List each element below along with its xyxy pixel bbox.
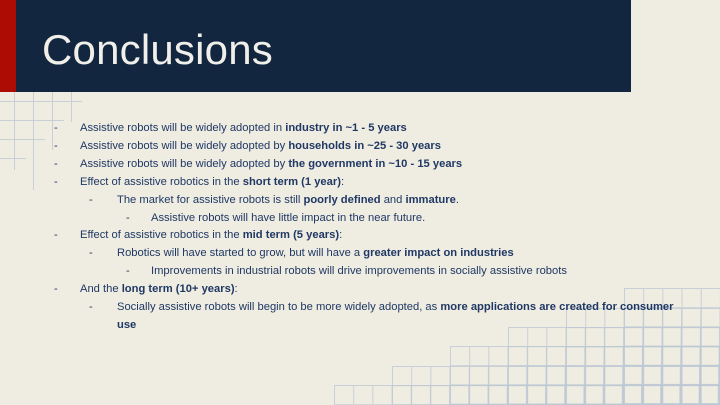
bullet-text-emphasis: mid term (5 years) [243,229,339,241]
grid-block [508,327,720,405]
bullet-text-emphasis: greater impact on industries [363,247,513,259]
bullet-text: Assistive robots will be widely adopted … [80,120,680,138]
bullet-text-run: Socially assistive robots will begin to … [117,301,440,313]
page-title: Conclusions [42,24,273,76]
bullet-item-level-3: -Assistive robots will have little impac… [0,210,720,228]
bullet-marker: - [54,156,80,174]
bullet-marker: - [89,245,117,263]
bullet-item-level-2: -Socially assistive robots will begin to… [0,299,720,335]
title-bar: Conclusions [0,0,631,92]
bullet-marker: - [54,174,80,192]
bullet-item-level-1: -Effect of assistive robotics in the mid… [0,227,720,245]
bullet-text-run: . [456,194,459,206]
bullet-marker: - [126,210,151,228]
bullet-list: -Assistive robots will be widely adopted… [0,120,720,335]
bullet-text-emphasis: poorly defined [304,194,381,206]
bullet-text-run: and [381,194,406,206]
bullet-item-level-1: -Effect of assistive robotics in the sho… [0,174,720,192]
bullet-text-run: Improvements in industrial robots will d… [151,265,567,277]
bullet-text-run: Assistive robots will be widely adopted … [80,158,288,170]
bullet-text-emphasis: short term (1 year) [243,176,341,188]
bullet-text-run: : [339,229,342,241]
bullet-item-level-1: -And the long term (10+ years): [0,281,720,299]
bullet-text: Assistive robots will be widely adopted … [80,138,680,156]
bullet-item-level-1: -Assistive robots will be widely adopted… [0,120,720,138]
bullet-item-level-2: -The market for assistive robots is stil… [0,192,720,210]
bullet-marker: - [54,120,80,138]
bullet-text-run: : [341,176,344,188]
bullet-marker: - [54,138,80,156]
bullet-text: Robotics will have started to grow, but … [117,245,682,263]
bullet-text-run: The market for assistive robots is still [117,194,304,206]
bullet-text: Assistive robots will have little impact… [151,210,681,228]
bullet-text: Effect of assistive robotics in the mid … [80,227,680,245]
slide-canvas: Conclusions -Assistive robots will be wi… [0,0,720,405]
bullet-text-emphasis: industry in ~1 - 5 years [285,122,407,134]
bullet-text: The market for assistive robots is still… [117,192,682,210]
grid-block [334,385,720,405]
bullet-text-run: Effect of assistive robotics in the [80,229,243,241]
bullet-text: Socially assistive robots will begin to … [117,299,682,335]
bullet-marker: - [54,227,80,245]
bullet-text: Improvements in industrial robots will d… [151,263,681,281]
bullet-item-level-1: -Assistive robots will be widely adopted… [0,138,720,156]
bullet-text-run: Assistive robots will be widely adopted … [80,122,285,134]
bullet-marker: - [54,281,80,299]
bullet-marker: - [89,192,117,210]
bullet-text-emphasis: immature [405,194,455,206]
grid-line-vertical [71,92,72,122]
bullet-item-level-1: -Assistive robots will be widely adopted… [0,156,720,174]
bullet-text: Assistive robots will be widely adopted … [80,156,680,174]
grid-block [450,346,720,405]
title-accent-bar [0,0,16,92]
bullet-text-run: Robotics will have started to grow, but … [117,247,363,259]
bullet-marker: - [126,263,151,281]
grid-block [392,366,720,405]
bullet-text-run: And the [80,283,122,295]
grid-line-horizontal [0,101,82,102]
bullet-text: Effect of assistive robotics in the shor… [80,174,680,192]
bullet-item-level-2: -Robotics will have started to grow, but… [0,245,720,263]
bullet-text-run: Assistive robots will be widely adopted … [80,140,288,152]
bullet-text-run: Effect of assistive robotics in the [80,176,243,188]
bullet-text-emphasis: the government in ~10 - 15 years [288,158,462,170]
bullet-text: And the long term (10+ years): [80,281,680,299]
bullet-item-level-3: -Improvements in industrial robots will … [0,263,720,281]
bullet-marker: - [89,299,117,317]
bullet-text-run: : [235,283,238,295]
bullet-text-emphasis: long term (10+ years) [122,283,235,295]
bullet-text-run: Assistive robots will have little impact… [151,212,425,224]
bullet-text-emphasis: households in ~25 - 30 years [288,140,441,152]
